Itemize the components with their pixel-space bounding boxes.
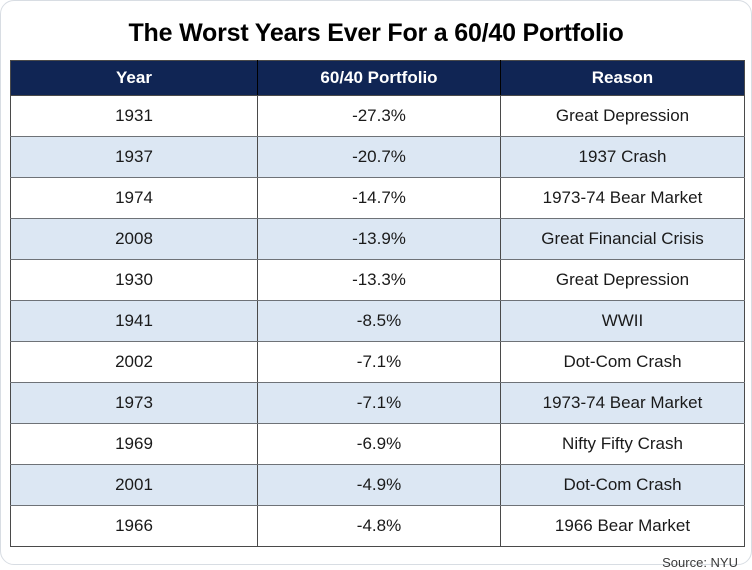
table-row: 1941 -8.5% WWII	[11, 301, 745, 342]
table-body: 1931 -27.3% Great Depression 1937 -20.7%…	[11, 96, 745, 547]
cell-year: 2002	[11, 342, 258, 383]
table-row: 2002 -7.1% Dot-Com Crash	[11, 342, 745, 383]
cell-portfolio: -4.8%	[258, 506, 501, 547]
cell-year: 1966	[11, 506, 258, 547]
page-title: The Worst Years Ever For a 60/40 Portfol…	[1, 1, 751, 60]
cell-year: 1937	[11, 137, 258, 178]
cell-portfolio: -6.9%	[258, 424, 501, 465]
cell-portfolio: -14.7%	[258, 178, 501, 219]
table-row: 1931 -27.3% Great Depression	[11, 96, 745, 137]
table-header-row: Year 60/40 Portfolio Reason	[11, 61, 745, 96]
cell-reason: Great Financial Crisis	[501, 219, 745, 260]
column-header-year: Year	[11, 61, 258, 96]
cell-portfolio: -13.9%	[258, 219, 501, 260]
cell-year: 1941	[11, 301, 258, 342]
cell-portfolio: -13.3%	[258, 260, 501, 301]
cell-reason: Dot-Com Crash	[501, 342, 745, 383]
cell-reason: 1966 Bear Market	[501, 506, 745, 547]
table-row: 1969 -6.9% Nifty Fifty Crash	[11, 424, 745, 465]
table-row: 1930 -13.3% Great Depression	[11, 260, 745, 301]
cell-portfolio: -27.3%	[258, 96, 501, 137]
table-container: Year 60/40 Portfolio Reason 1931 -27.3% …	[10, 60, 742, 547]
table-row: 1973 -7.1% 1973-74 Bear Market	[11, 383, 745, 424]
table-row: 1966 -4.8% 1966 Bear Market	[11, 506, 745, 547]
cell-year: 2008	[11, 219, 258, 260]
table-row: 2001 -4.9% Dot-Com Crash	[11, 465, 745, 506]
cell-reason: Great Depression	[501, 260, 745, 301]
cell-year: 1930	[11, 260, 258, 301]
cell-reason: Nifty Fifty Crash	[501, 424, 745, 465]
table-header: Year 60/40 Portfolio Reason	[11, 61, 745, 96]
table-row: 2008 -13.9% Great Financial Crisis	[11, 219, 745, 260]
cell-reason: 1973-74 Bear Market	[501, 178, 745, 219]
cell-portfolio: -20.7%	[258, 137, 501, 178]
cell-reason: WWII	[501, 301, 745, 342]
cell-year: 2001	[11, 465, 258, 506]
column-header-reason: Reason	[501, 61, 745, 96]
portfolio-table-card: The Worst Years Ever For a 60/40 Portfol…	[0, 0, 752, 565]
cell-portfolio: -4.9%	[258, 465, 501, 506]
cell-portfolio: -7.1%	[258, 342, 501, 383]
cell-reason: 1973-74 Bear Market	[501, 383, 745, 424]
column-header-portfolio: 60/40 Portfolio	[258, 61, 501, 96]
table-row: 1974 -14.7% 1973-74 Bear Market	[11, 178, 745, 219]
cell-year: 1973	[11, 383, 258, 424]
cell-portfolio: -8.5%	[258, 301, 501, 342]
cell-year: 1969	[11, 424, 258, 465]
cell-portfolio: -7.1%	[258, 383, 501, 424]
source-note: Source: NYU	[1, 547, 751, 570]
cell-reason: Great Depression	[501, 96, 745, 137]
worst-years-table: Year 60/40 Portfolio Reason 1931 -27.3% …	[10, 60, 745, 547]
cell-reason: Dot-Com Crash	[501, 465, 745, 506]
cell-year: 1931	[11, 96, 258, 137]
table-row: 1937 -20.7% 1937 Crash	[11, 137, 745, 178]
cell-year: 1974	[11, 178, 258, 219]
cell-reason: 1937 Crash	[501, 137, 745, 178]
